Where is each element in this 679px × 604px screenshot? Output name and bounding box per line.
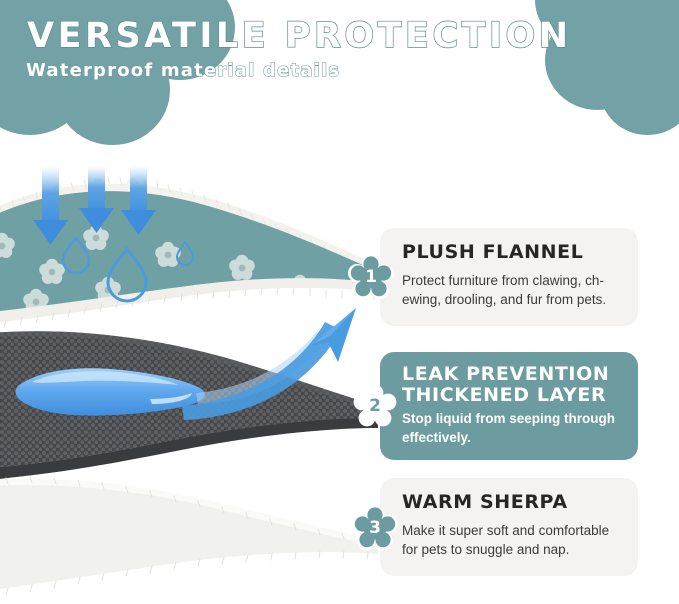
step-badge-number: 2 <box>352 383 398 429</box>
panel-title: WARM SHERPA <box>402 492 568 513</box>
page-subtitle: Waterproof material details <box>26 60 340 81</box>
page-title: VERSATILE PROTECTION <box>27 16 572 56</box>
panel-body-line: Stop liquid from seeping through <box>402 410 630 429</box>
panel-body: Make it super soft and comfortable for p… <box>402 522 630 559</box>
panel-warm-sherpa: WARM SHERPA Make it super soft and comfo… <box>380 478 638 576</box>
panel-body-line: Protect furniture from clawing, ch- <box>402 272 627 291</box>
panel-body-line: for pets to snuggle and nap. <box>402 541 630 560</box>
step-badge-2: 2 <box>352 383 398 429</box>
sherpa-layer <box>0 477 378 595</box>
cloud-blob <box>650 0 679 90</box>
panel-body-line: effectively. <box>402 429 630 448</box>
step-badge-number: 1 <box>348 254 394 300</box>
panel-title: PLUSH FLANNEL <box>402 242 583 263</box>
panel-title-line: LEAK PREVENTION <box>402 364 609 385</box>
step-badge-3: 3 <box>352 505 398 551</box>
panel-leak-prevention: LEAK PREVENTION THICKENED LAYER Stop liq… <box>380 352 638 460</box>
step-badge-number: 3 <box>352 505 398 551</box>
cloud-blob <box>585 0 679 70</box>
panel-body: Stop liquid from seeping through effecti… <box>402 410 630 447</box>
panel-title-line: THICKENED LAYER <box>402 385 609 406</box>
panel-body-line: Make it super soft and comfortable <box>402 522 630 541</box>
infographic-root: VERSATILE PROTECTION Waterproof material… <box>0 0 679 604</box>
panel-body: Protect furniture from clawing, ch- ewin… <box>402 272 627 309</box>
panel-body-line: ewing, drooling, and fur from pets. <box>402 291 627 310</box>
panel-plush-flannel: PLUSH FLANNEL Protect furniture from cla… <box>380 228 638 326</box>
product-layers-illustration <box>0 150 400 604</box>
step-badge-1: 1 <box>348 254 394 300</box>
panel-title: LEAK PREVENTION THICKENED LAYER <box>402 364 609 407</box>
cloud-blob <box>600 45 679 135</box>
